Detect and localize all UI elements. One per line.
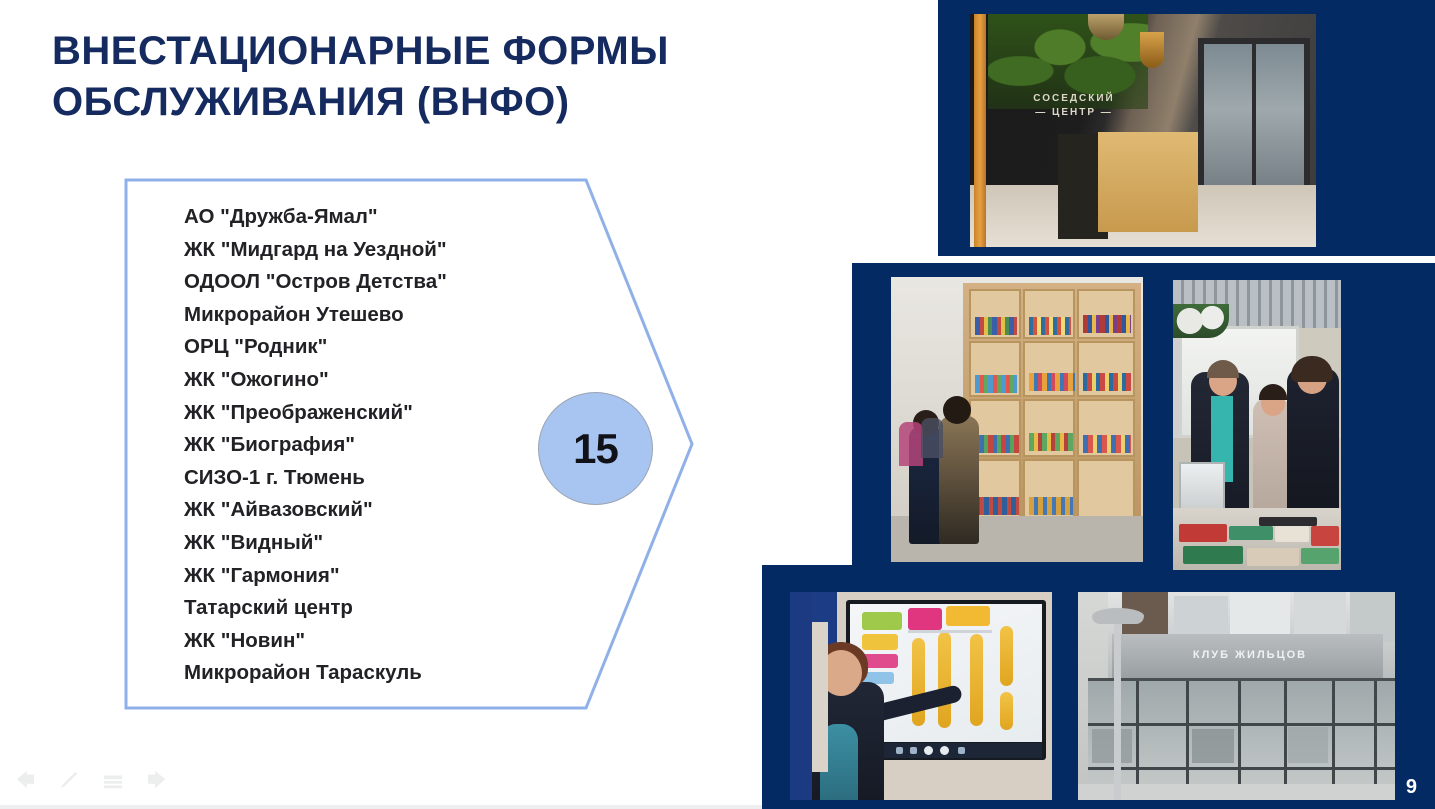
lobby-sign-text: СОСЕДСКИЙ — ЦЕНТР — xyxy=(1014,92,1134,120)
previous-slide-icon[interactable] xyxy=(14,771,36,791)
list-item: ОДООЛ "Остров Детства" xyxy=(184,266,584,299)
list-item: ЖК "Новин" xyxy=(184,625,584,658)
building-sign-text: КЛУБ ЖИЛЬЦОВ xyxy=(1170,644,1330,666)
list-item: ЖК "Айвазовский" xyxy=(184,494,584,527)
list-item: ЖК "Преображенский" xyxy=(184,397,584,430)
list-item: ЖК "Ожогино" xyxy=(184,364,584,397)
page-number: 9 xyxy=(1406,776,1417,799)
list-item: АО "Дружба-Ямал" xyxy=(184,201,584,234)
list-item: ЖК "Биография" xyxy=(184,429,584,462)
list-item: Татарский центр xyxy=(184,592,584,625)
locations-list: АО "Дружба-Ямал" ЖК "Мидгард на Уездной"… xyxy=(184,201,584,690)
page-title: ВНЕСТАЦИОНАРНЫЕ ФОРМЫ ОБСЛУЖИВАНИЯ (ВНФО… xyxy=(52,26,732,128)
list-item: Микрорайон Утешево xyxy=(184,299,584,332)
count-badge-value: 15 xyxy=(573,425,618,473)
list-item: ЖК "Видный" xyxy=(184,527,584,560)
list-item: ЖК "Мидгард на Уездной" xyxy=(184,234,584,267)
list-item: Микрорайон Тараскуль xyxy=(184,657,584,690)
title-line-1: ВНЕСТАЦИОНАРНЫЕ ФОРМЫ xyxy=(52,26,732,77)
pen-tool-icon[interactable] xyxy=(58,771,80,791)
list-item: ЖК "Гармония" xyxy=(184,560,584,593)
photo-library-children xyxy=(891,277,1143,562)
photo-neighbour-center-lobby: СОСЕДСКИЙ — ЦЕНТР — xyxy=(970,14,1316,247)
slideshow-toolbar[interactable] xyxy=(14,771,168,791)
title-line-2: ОБСЛУЖИВАНИЯ (ВНФО) xyxy=(52,77,732,128)
list-item: СИЗО-1 г. Тюмень xyxy=(184,462,584,495)
next-slide-icon[interactable] xyxy=(146,771,168,791)
slide-menu-icon[interactable] xyxy=(102,771,124,791)
photo-residents-club-building: КЛУБ ЖИЛЬЦОВ xyxy=(1078,592,1395,800)
photo-people-at-table xyxy=(1173,280,1341,570)
list-item: ОРЦ "Родник" xyxy=(184,331,584,364)
presentation-slide: ВНЕСТАЦИОНАРНЫЕ ФОРМЫ ОБСЛУЖИВАНИЯ (ВНФО… xyxy=(0,0,1435,809)
bottom-divider xyxy=(0,805,762,809)
photo-presenter-screen xyxy=(790,592,1052,800)
count-badge: 15 xyxy=(538,392,653,505)
